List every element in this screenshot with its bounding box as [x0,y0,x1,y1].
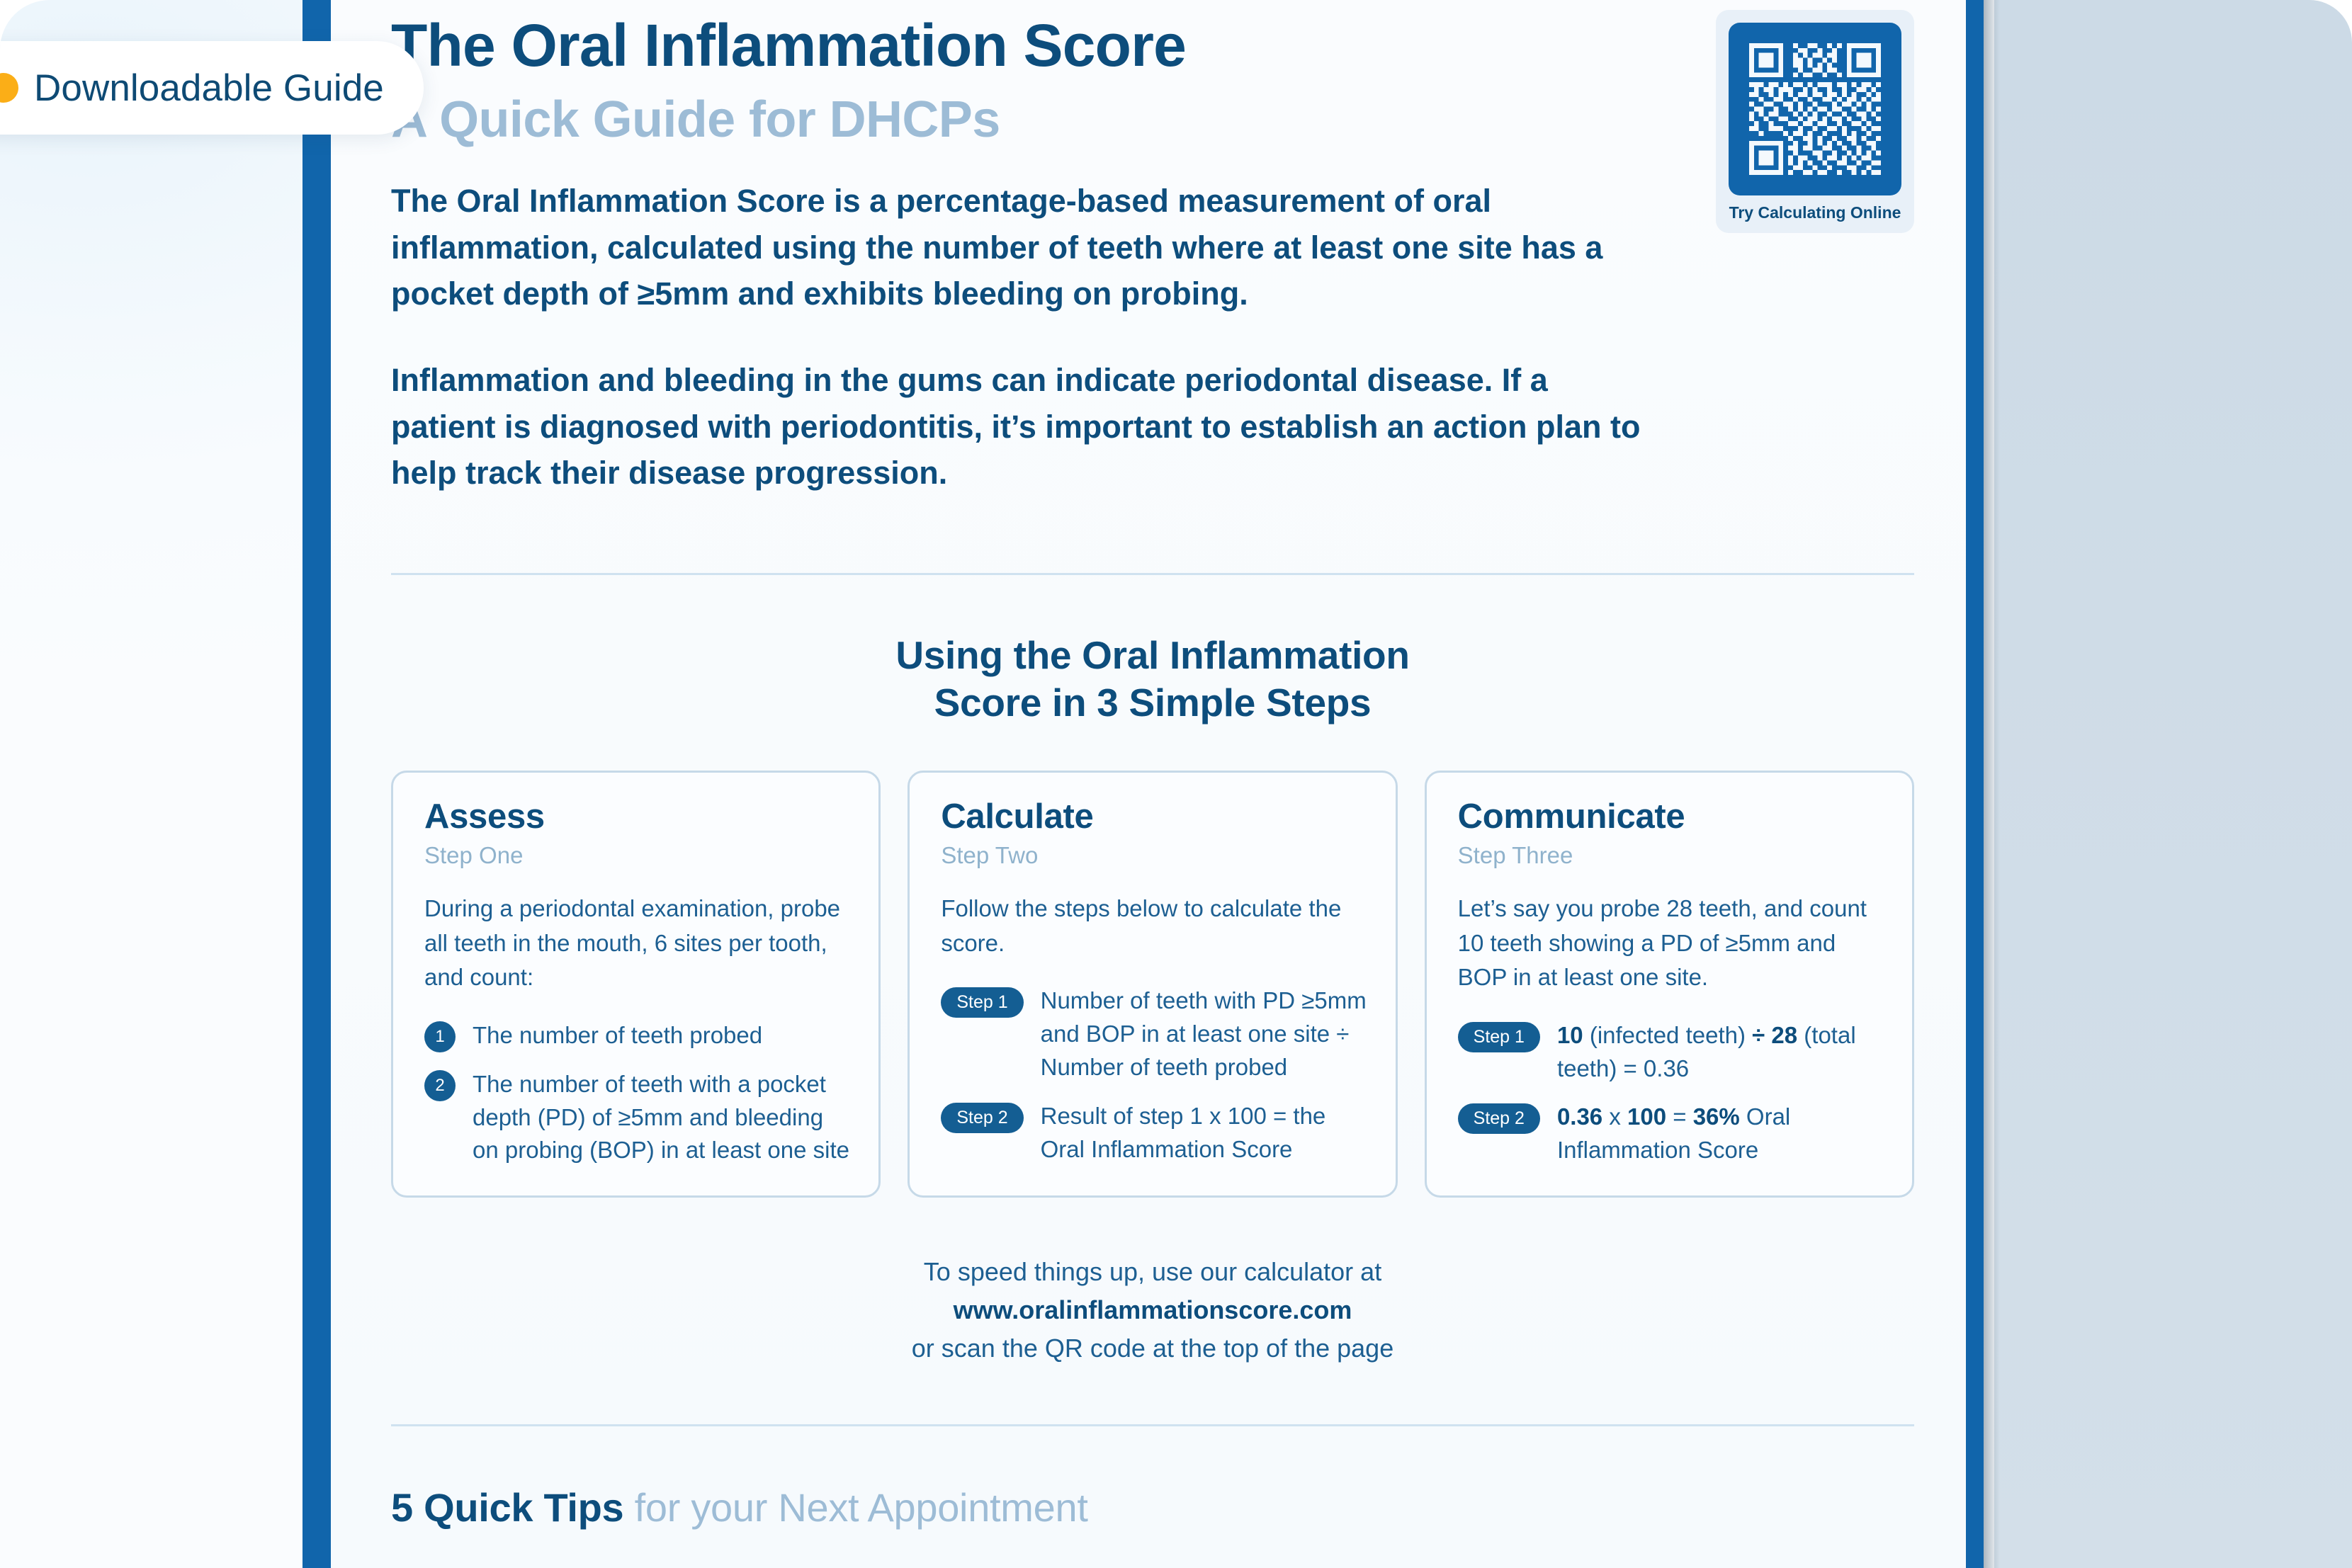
divider-top [391,573,1914,575]
card-description: Follow the steps below to calculate the … [941,892,1367,960]
step-badge: Step 1 [1458,1022,1540,1052]
steps-heading-line-1: Using the Oral Inflammation [895,633,1409,677]
page-root: Try Calculating Online The Oral Inflamma… [0,0,2352,1568]
list-item-text: Number of teeth with PD ≥5mm and BOP in … [1041,984,1367,1084]
qr-caption: Try Calculating Online [1729,203,1901,223]
step-badge: Step 2 [1458,1103,1540,1134]
card-title: Calculate [941,797,1367,836]
steps-section-heading: Using the Oral Inflammation Score in 3 S… [391,632,1914,727]
divider-bottom [391,1424,1914,1426]
page-title: The Oral Inflammation Score [391,16,1914,76]
card-description: Let’s say you probe 28 teeth, and count … [1458,892,1884,995]
list-item-text: 10 (infected teeth) ÷ 28 (total teeth) =… [1557,1019,1884,1086]
card-step-label: Step Three [1458,842,1884,869]
card-title: Communicate [1458,797,1884,836]
list-marker-number: 2 [424,1070,456,1101]
card-step-label: Step One [424,842,850,869]
list-item-text: 0.36 x 100 = 36% Oral Inflammation Score [1557,1101,1884,1167]
list-item: Step 1 Number of teeth with PD ≥5mm and … [941,984,1367,1084]
step-card-calculate[interactable]: Calculate Step Two Follow the steps belo… [908,771,1397,1198]
divider-bottom-wrap [391,1424,1914,1426]
list-item: Step 2 0.36 x 100 = 36% Oral Inflammatio… [1458,1101,1884,1167]
steps-heading-line-2: Score in 3 Simple Steps [934,681,1372,725]
qr-code-icon[interactable] [1729,23,1901,195]
badge-label: Downloadable Guide [34,67,384,110]
page-subtitle: A Quick Guide for DHCPs [391,92,1914,148]
calculator-footnote: To speed things up, use our calculator a… [391,1253,1914,1368]
card-description: During a periodontal examination, probe … [424,892,850,995]
calculator-url[interactable]: www.oralinflammationscore.com [391,1291,1914,1329]
blue-accent-bar-left [303,0,331,1568]
list-item: Step 2 Result of step 1 x 100 = the Oral… [941,1100,1367,1166]
divider-top-wrap [391,573,1914,575]
card-item-list: Step 1 Number of teeth with PD ≥5mm and … [941,984,1367,1166]
step-cards-row: Assess Step One During a periodontal exa… [391,771,1914,1198]
blue-accent-bar-right [1966,0,1984,1568]
background-right-panel [1994,0,2352,1568]
card-title: Assess [424,797,850,836]
intro-paragraph-2: Inflammation and bleeding in the gums ca… [391,357,1652,496]
list-marker-number: 1 [424,1021,456,1052]
step-badge: Step 1 [941,987,1023,1018]
list-item-text: The number of teeth probed [473,1019,762,1052]
footnote-line-3: or scan the QR code at the top of the pa… [391,1329,1914,1368]
footnote-line-1: To speed things up, use our calculator a… [391,1253,1914,1291]
list-item-text: The number of teeth with a pocket depth … [473,1068,850,1168]
tips-heading: 5 Quick Tips for your Next Appointment [391,1484,1914,1530]
tips-heading-light: for your Next Appointment [623,1485,1087,1530]
document-sheet: Try Calculating Online The Oral Inflamma… [0,0,1984,1568]
intro-paragraph-1: The Oral Inflammation Score is a percent… [391,178,1652,317]
list-item-text: Result of step 1 x 100 = the Oral Inflam… [1041,1100,1367,1166]
list-item: 1 The number of teeth probed [424,1019,850,1052]
step-card-assess[interactable]: Assess Step One During a periodontal exa… [391,771,881,1198]
step-badge: Step 2 [941,1103,1023,1133]
qr-code-block[interactable]: Try Calculating Online [1716,10,1914,233]
status-dot-icon [0,73,18,103]
list-item: 2 The number of teeth with a pocket dept… [424,1068,850,1168]
main-content: The Oral Inflammation Score A Quick Guid… [391,0,1914,1568]
card-item-list: Step 1 10 (infected teeth) ÷ 28 (total t… [1458,1019,1884,1167]
card-item-list: 1 The number of teeth probed 2 The numbe… [424,1019,850,1168]
tips-heading-strong: 5 Quick Tips [391,1485,623,1530]
step-card-communicate[interactable]: Communicate Step Three Let’s say you pro… [1425,771,1914,1198]
downloadable-guide-badge[interactable]: Downloadable Guide [0,41,424,135]
list-item: Step 1 10 (infected teeth) ÷ 28 (total t… [1458,1019,1884,1086]
card-step-label: Step Two [941,842,1367,869]
